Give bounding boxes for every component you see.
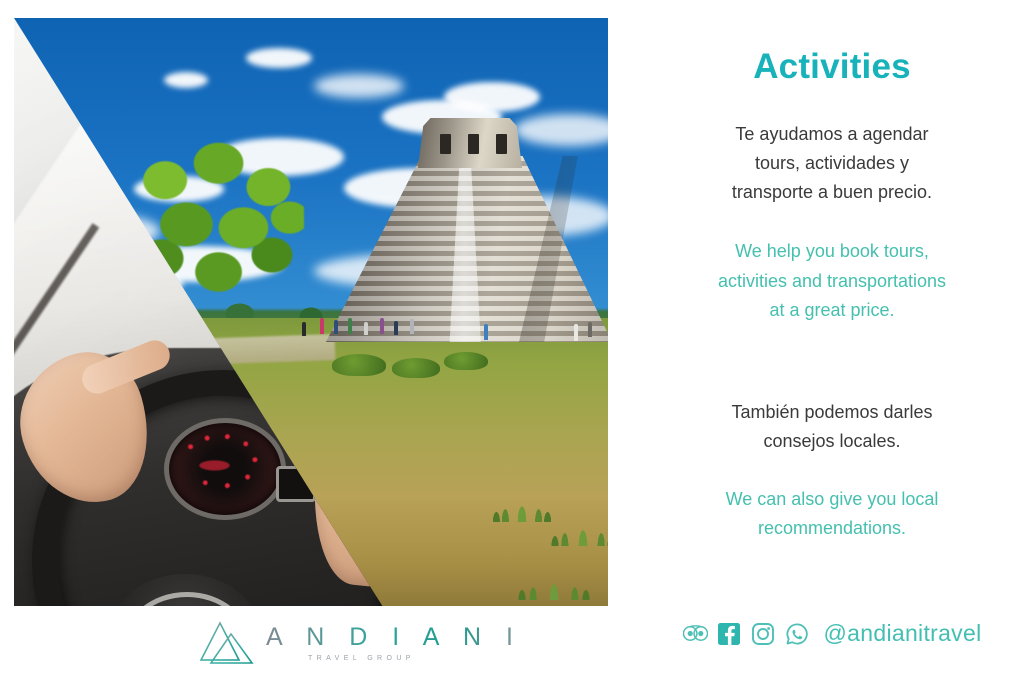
paragraph-line: transporte a buen precio.: [732, 182, 932, 202]
paragraph-es-2: También podemos darles consejos locales.: [667, 398, 997, 456]
page-title: Activities: [640, 0, 1024, 87]
brand-wordmark: A N D I A N I TRAVEL GROUP: [266, 624, 522, 662]
agave-plant: [490, 470, 554, 522]
cloud: [314, 74, 404, 98]
shrub: [332, 354, 386, 376]
social-handle[interactable]: @andianitravel: [824, 620, 982, 647]
hero-photo: [14, 18, 608, 606]
whatsapp-icon[interactable]: [785, 621, 810, 646]
cloud: [164, 72, 208, 88]
paragraph-line: We help you book tours,: [735, 241, 929, 261]
tourist: [410, 319, 414, 334]
cloud: [246, 48, 312, 68]
paragraph-en-1: We help you book tours, activities and t…: [667, 237, 997, 324]
paragraph-line: at a great price.: [769, 300, 894, 320]
paragraph-line: tours, actividades y: [755, 153, 909, 173]
paragraph-line: También podemos darles: [731, 402, 932, 422]
paragraph-es-1: Te ayudamos a agendar tours, actividades…: [667, 120, 997, 207]
brand-tagline: TRAVEL GROUP: [308, 655, 522, 662]
tourist: [380, 318, 384, 334]
tourist: [574, 324, 578, 341]
paragraph-line: activities and transportations: [718, 271, 946, 291]
paragraph-line: We can also give you local: [726, 489, 939, 509]
facebook-icon[interactable]: [717, 621, 742, 646]
brand-logo: A N D I A N I TRAVEL GROUP: [200, 620, 522, 666]
brand-name: A N D I A N I: [266, 624, 522, 652]
chichen-itza-pyramid: [314, 112, 608, 342]
temple-doorway: [440, 134, 451, 154]
agave-plant: [514, 538, 594, 600]
cloud: [444, 82, 540, 112]
paragraph-line: Te ayudamos a agendar: [735, 124, 928, 144]
double-triangle-icon: [200, 620, 256, 666]
tourist: [334, 320, 338, 334]
tourist: [302, 322, 306, 336]
tripadvisor-icon[interactable]: [683, 621, 708, 646]
paragraph-line: consejos locales.: [763, 431, 900, 451]
tourist: [320, 318, 324, 334]
tourist: [348, 318, 352, 334]
instagram-icon[interactable]: [751, 621, 776, 646]
tourist: [588, 322, 592, 337]
temple-doorway: [468, 134, 479, 154]
tourist: [484, 324, 488, 340]
shrub: [392, 358, 440, 378]
shrub: [444, 352, 488, 370]
slide-canvas: A N D I A N I TRAVEL GROUP Activities Te…: [0, 0, 1024, 683]
social-links: @andianitravel: [640, 620, 1024, 647]
temple-doorway: [496, 134, 507, 154]
paragraph-line: recommendations.: [758, 518, 906, 538]
tourist: [394, 321, 398, 335]
tourist: [364, 322, 368, 335]
paragraph-en-2: We can also give you local recommendatio…: [667, 485, 997, 543]
text-column: Activities Te ayudamos a agendar tours, …: [640, 0, 1024, 683]
